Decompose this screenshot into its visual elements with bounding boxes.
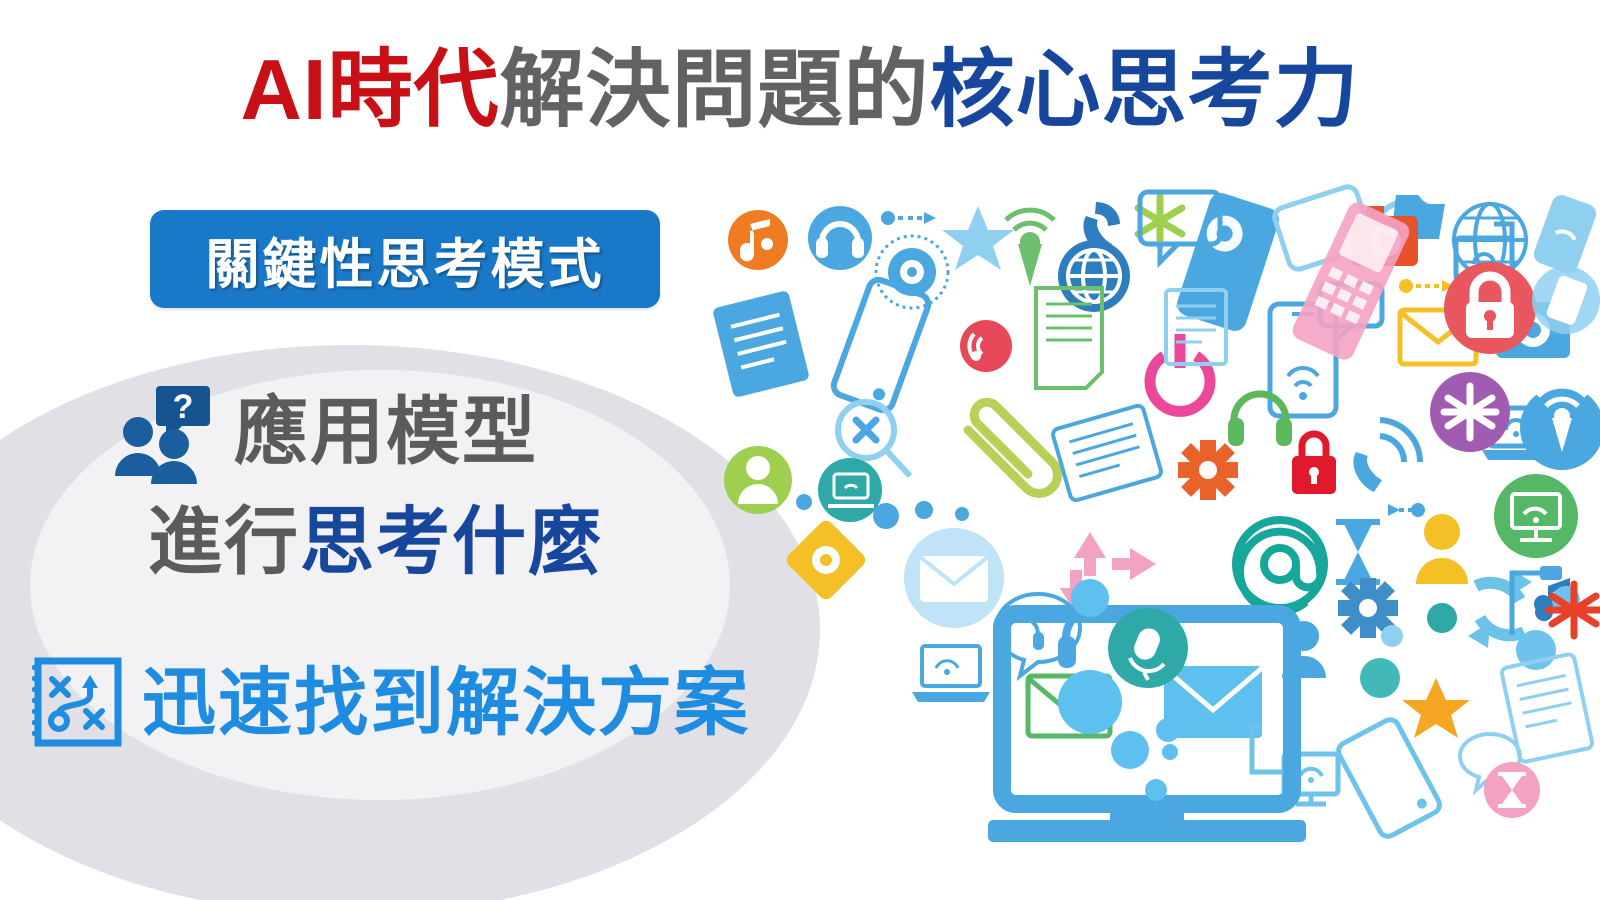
paperclip-icon	[968, 402, 1057, 493]
page-title: AI時代解決問題的核心思考力	[0, 46, 1600, 135]
star-orange-icon	[1402, 678, 1470, 738]
at-sign-icon	[1236, 520, 1324, 612]
strategy-playbook-icon	[28, 655, 124, 751]
smartphone-icon	[831, 277, 931, 413]
padlock-red-circle-icon	[1444, 262, 1536, 354]
hourglass-icon	[1336, 522, 1380, 582]
headphones-icon	[808, 206, 872, 270]
monitor-wifi-green-icon	[1494, 474, 1578, 558]
bubble-dot-2-icon	[915, 501, 933, 519]
hourglass-pink-icon	[1484, 762, 1540, 818]
tag-icon	[784, 518, 869, 603]
music-note-icon	[728, 210, 788, 270]
phone-wifi-icon	[1353, 420, 1420, 492]
bubble-dot-3-icon	[955, 507, 969, 521]
tablet-rotated-icon	[1335, 717, 1442, 840]
title-segment-problem-solving: 解決問題	[499, 43, 843, 138]
user-avatar-yellow-icon	[1416, 514, 1468, 584]
user-circle-green-icon	[724, 446, 792, 514]
bullet-line-1: ? 應用模型	[112, 380, 538, 484]
title-segment-de: 的	[844, 43, 930, 138]
document-icon	[712, 290, 810, 398]
bubble-small-3-icon	[1145, 779, 1167, 801]
wifi-antenna-icon	[1006, 210, 1054, 286]
bullet-1-text: 應用模型	[234, 395, 538, 469]
bubble-above-icon	[1071, 579, 1109, 617]
flip-phone-pink-icon	[1289, 199, 1412, 363]
laptop-small-icon	[912, 646, 990, 702]
rss-icon	[960, 320, 1012, 372]
asterisk-icon	[1138, 196, 1182, 246]
star-icon	[942, 206, 1014, 270]
bullet-2-text-navy: 思考什麼	[300, 505, 604, 579]
circle-teal-1-icon	[1427, 603, 1457, 633]
globe-icon	[1058, 240, 1130, 312]
circle-teal-2-icon	[1360, 658, 1400, 698]
badge-label: 關鍵性思考模式	[206, 220, 605, 299]
flower-burst-purple-icon	[1430, 372, 1510, 452]
svg-text:?: ?	[173, 388, 194, 426]
slide-canvas: AI時代解決問題的核心思考力 關鍵性思考模式 ? 應用模型 進行 思考什麼	[0, 0, 1600, 900]
power-button-icon	[1150, 334, 1210, 411]
bubble-dot-4-icon	[796, 494, 812, 510]
bullet-line-2: 進行 思考什麼	[148, 505, 604, 579]
circle-blue-dot-icon	[1381, 625, 1403, 647]
dashed-arrow-yellow-icon	[1401, 280, 1454, 292]
bubble-med-icon	[1111, 731, 1149, 769]
collage-svg	[700, 180, 1600, 900]
dashed-arrow-icon	[883, 212, 936, 224]
tablet-wifi-rounded-icon	[1531, 192, 1599, 275]
title-segment-ai-era: AI時代	[240, 43, 499, 138]
letter-envelope-diag-icon	[1052, 404, 1163, 501]
bubble-small-2-icon	[1162, 744, 1178, 760]
bubble-dot-1-icon	[873, 503, 899, 529]
microphone-circle-icon	[1108, 608, 1188, 688]
technology-icon-collage	[700, 180, 1600, 900]
dashed-arrow-left-icon	[1388, 504, 1423, 516]
tablet-wifi-small-icon	[1532, 266, 1600, 334]
laptop-wifi-teal-icon	[818, 458, 882, 522]
status-badge: 關鍵性思考模式	[150, 210, 660, 308]
people-question-icon: ?	[112, 380, 216, 484]
gear-target-icon	[876, 236, 948, 308]
envelope-light-circle-icon	[904, 528, 1004, 628]
bullet-3-text: 迅速找到解決方案	[142, 666, 750, 740]
bullet-line-3: 迅速找到解決方案	[28, 655, 750, 751]
title-segment-core-thinking: 核心思考力	[930, 43, 1360, 138]
bubble-small-1-icon	[1156, 718, 1180, 742]
cog-orange-icon	[1178, 440, 1238, 500]
padlock-red-small-icon	[1292, 434, 1336, 494]
bubble-large-icon	[1058, 670, 1122, 734]
headphones-green-icon	[1228, 394, 1292, 446]
bullet-2-text-gray: 進行	[148, 505, 300, 579]
